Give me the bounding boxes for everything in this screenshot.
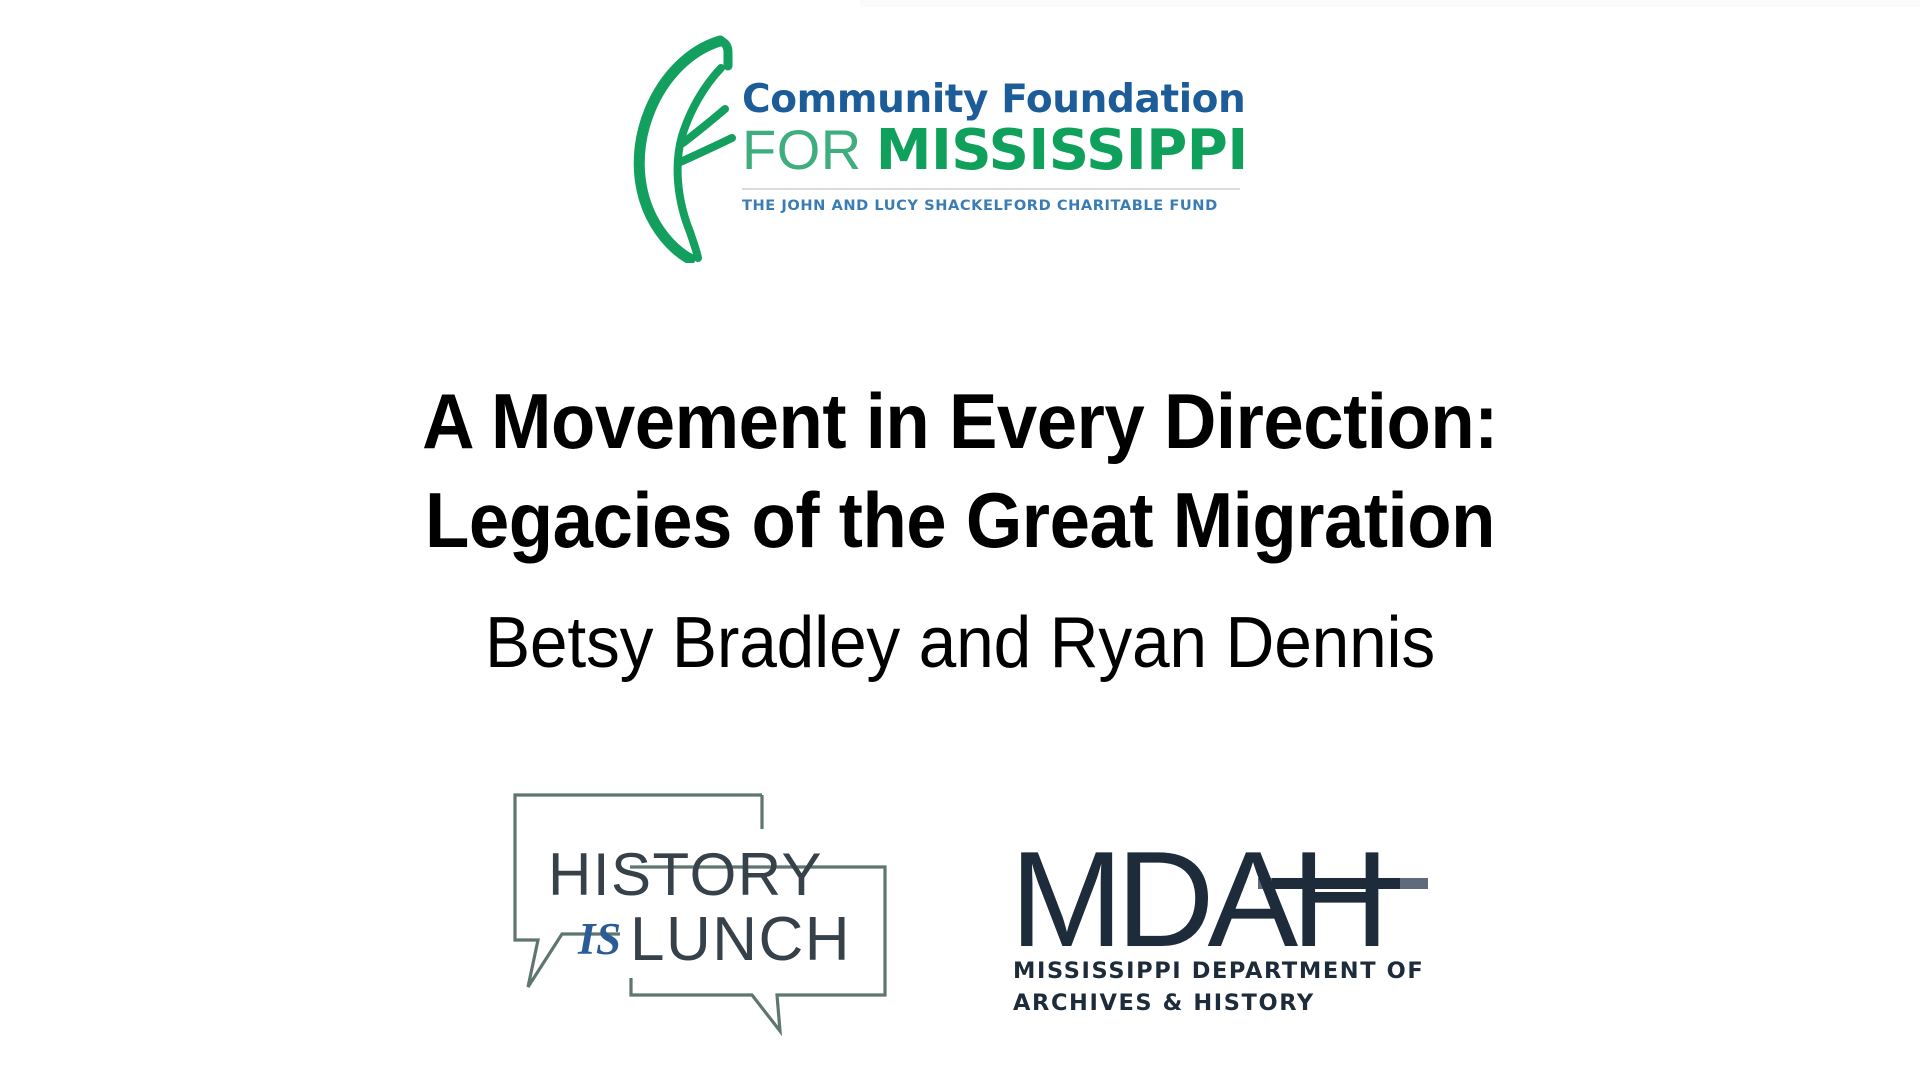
leaf-icon — [620, 28, 750, 263]
cfm-divider — [742, 188, 1240, 190]
presentation-title-slide: Community Foundation FORMISSISSIPPI THE … — [0, 0, 1920, 1080]
mdah-acronym: MDAH — [1010, 823, 1382, 975]
cfm-line-for-mississippi: FORMISSISSIPPI — [742, 122, 1260, 179]
hil-word-is: IS — [577, 914, 622, 964]
community-foundation-logo: Community Foundation FORMISSISSIPPI THE … — [620, 28, 1260, 243]
cfm-tagline: THE JOHN AND LUCY SHACKELFORD CHARITABLE… — [742, 197, 1260, 214]
cfm-wordmark: Community Foundation FORMISSISSIPPI THE … — [742, 80, 1260, 214]
history-is-lunch-logo: HISTORY IS LUNCH — [500, 782, 900, 1050]
hil-word-history: HISTORY — [548, 841, 823, 908]
title-line-2: Legacies of the Great Migration — [67, 471, 1853, 570]
cfm-word-mississippi: MISSISSIPPI — [876, 118, 1248, 183]
mdah-crossbar-front — [1272, 878, 1400, 889]
mdah-subtitle-line-1: MISSISSIPPI DEPARTMENT OF — [1013, 958, 1424, 984]
hil-word-lunch: LUNCH — [630, 905, 851, 974]
cfm-word-for: FOR — [742, 118, 862, 181]
title-line-1: A Movement in Every Direction: — [67, 372, 1853, 471]
slide-title: A Movement in Every Direction: Legacies … — [0, 372, 1920, 570]
slide-presenters: Betsy Bradley and Ryan Dennis — [58, 600, 1863, 686]
mdah-subtitle-line-2: ARCHIVES & HISTORY — [1013, 990, 1315, 1016]
top-edge-band — [860, 0, 1920, 7]
cfm-line-community-foundation: Community Foundation — [742, 80, 1260, 119]
mdah-logo: MDAH MISSISSIPPI DEPARTMENT OF ARCHIVES … — [1010, 822, 1435, 1020]
